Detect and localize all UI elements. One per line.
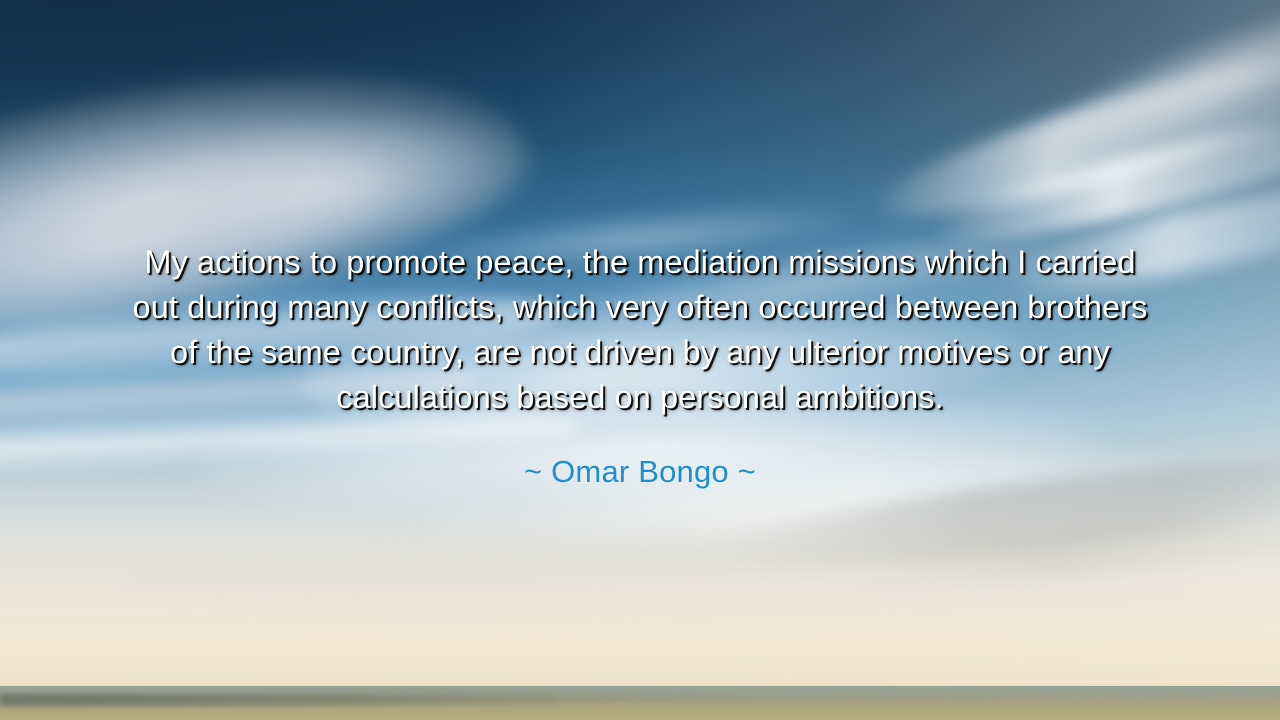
- quote-block: My actions to promote peace, the mediati…: [0, 240, 1280, 491]
- plain-dark-patch: [0, 694, 560, 708]
- quote-attribution: ~ Omar Bongo ~: [118, 453, 1162, 491]
- quote-text: My actions to promote peace, the mediati…: [118, 240, 1162, 420]
- plain-foreground: [0, 707, 1280, 720]
- horizon-glow: [0, 602, 1280, 692]
- quote-card: My actions to promote peace, the mediati…: [0, 0, 1280, 720]
